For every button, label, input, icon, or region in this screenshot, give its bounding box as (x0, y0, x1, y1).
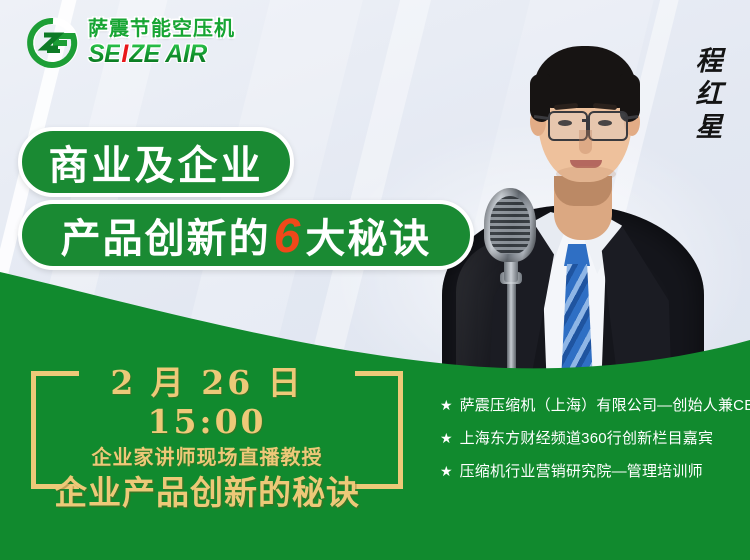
bracket-arm-top (355, 371, 403, 376)
speaker-name-vertical: 程 红 星 (690, 48, 728, 141)
event-date-time: 2 月 26 日 15:00 (52, 364, 362, 442)
microphone-grille (490, 196, 530, 254)
bracket-stem (398, 371, 403, 489)
eyeglass-bridge (582, 119, 590, 122)
headline-line-2-before: 产品创新的 (61, 206, 271, 264)
star-icon: ★ (440, 431, 453, 445)
brand-en-accent-letter: I (121, 42, 127, 67)
speaker-name-char: 星 (696, 114, 723, 141)
bracket-right (355, 371, 403, 489)
event-subtitle: 企业家讲师现场直播教授 (52, 442, 362, 472)
brand-logotype: 萨震节能空压机 SEIZE AIR (88, 19, 235, 67)
headline-line-2-after: 大秘诀 (305, 206, 431, 264)
list-item: ★ 上海东方财经频道360行创新栏目嘉宾 (440, 431, 740, 446)
necktie-knot (564, 244, 590, 266)
speaker-name-char: 程 (696, 48, 723, 75)
bracket-arm-bottom (355, 484, 403, 489)
brand-name-en: SEIZE AIR (88, 42, 235, 67)
microphone-stand (507, 276, 516, 406)
event-topic: 企业产品创新的秘诀 (52, 472, 362, 515)
headline-line-2: 产品创新的6大秘诀 (18, 200, 474, 270)
brand-name-cn: 萨震节能空压机 (88, 19, 235, 39)
brand-logo[interactable]: 萨震节能空压机 SEIZE AIR (26, 16, 235, 70)
speaker-photo (430, 0, 710, 400)
chin-shadow (556, 166, 616, 182)
headline-line-1: 商业及企业 (18, 127, 294, 197)
promo-banner: 萨震节能空压机 SEIZE AIR 商业及企业 产品创新的6大秘诀 程 红 星 … (0, 0, 750, 560)
sz-monogram-icon (26, 16, 80, 70)
brand-en-part1: SE (88, 42, 120, 67)
event-details: 2 月 26 日 15:00 企业家讲师现场直播教授 企业产品创新的秘诀 (52, 364, 362, 515)
credential-text: 压缩机行业营销研究院—管理培训师 (460, 464, 703, 479)
list-item: ★ 萨震压缩机（上海）有限公司—创始人兼CEO (440, 398, 740, 413)
speaker-name-char: 红 (696, 81, 723, 108)
nose (579, 130, 592, 154)
headline-number: 6 (274, 213, 303, 261)
credentials-list: ★ 萨震压缩机（上海）有限公司—创始人兼CEO ★ 上海东方财经频道360行创新… (440, 398, 740, 497)
eyeglass-lens-right (588, 111, 628, 141)
credential-text: 萨震压缩机（上海）有限公司—创始人兼CEO (460, 398, 750, 413)
list-item: ★ 压缩机行业营销研究院—管理培训师 (440, 464, 740, 479)
headline-line-1-text: 商业及企业 (49, 133, 264, 191)
credential-text: 上海东方财经频道360行创新栏目嘉宾 (460, 431, 714, 446)
star-icon: ★ (440, 398, 453, 412)
bracket-stem (31, 371, 36, 489)
star-icon: ★ (440, 464, 453, 478)
brand-en-part2: ZE AIR (129, 42, 207, 67)
